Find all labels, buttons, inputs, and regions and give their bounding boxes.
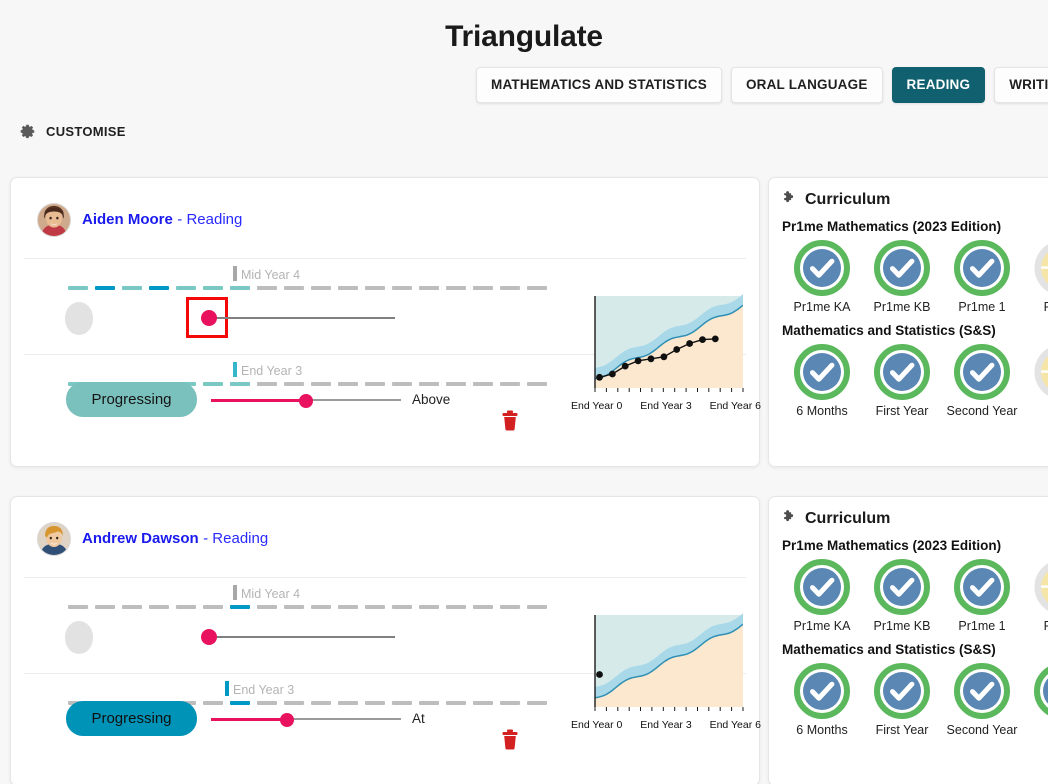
check-complete-icon [862,559,942,615]
goal-rail[interactable] [207,317,395,319]
chart-x-label: End Year 3 [640,719,691,731]
track-dash [257,605,277,609]
curriculum-section-title: Pr1me Mathematics (2023 Edition) [769,210,1048,234]
track-dash [338,605,358,609]
track-dash [527,286,547,290]
trash-icon [501,737,519,754]
track-dash [203,605,223,609]
progress-donut-icon: 4 1 [1022,559,1048,615]
curriculum-item-label: First Year [862,723,942,737]
student-subject: - Reading [203,530,268,547]
chart-x-label: End Year 6 [710,400,761,412]
curriculum-item[interactable]: Pr1me KA [782,559,862,633]
curriculum-item-row: Pr1me KA Pr1me KB Pr1me 1 0 1 Pr1me [769,234,1048,314]
milestone-label: End Year 3 [233,683,294,697]
track-dash [365,605,385,609]
curriculum-item[interactable]: 6 Months [782,344,862,418]
ghost-status-pill[interactable] [65,621,93,654]
app-root: Triangulate MATHEMATICS AND STATISTICSOR… [0,0,1048,784]
track-dash [122,605,142,609]
slider-value-label: Above [412,392,450,407]
curriculum-item[interactable]: 6 Months [782,663,862,737]
puzzle-icon [782,190,797,210]
customise-label: CUSTOMISE [46,124,126,139]
tab-mathematics-and-statistics[interactable]: MATHEMATICS AND STATISTICS [476,67,722,103]
track-dash [419,286,439,290]
curriculum-item[interactable]: Pr1me KB [862,240,942,314]
track-dash [392,605,412,609]
student-name[interactable]: Andrew Dawson [82,530,199,547]
track-dash [338,286,358,290]
student-header: Andrew Dawson - Reading [11,497,759,556]
student-card: Aiden Moore - Reading Mid Year 4 End Yea… [10,177,760,467]
track-dash [257,286,277,290]
goal-rail[interactable] [207,636,395,638]
track-dash [500,605,520,609]
milestone-tick [225,681,229,696]
track-dash [500,286,520,290]
track-dash [311,286,331,290]
student-subject: - Reading [177,211,242,228]
student-header: Aiden Moore - Reading [11,178,759,237]
curriculum-item[interactable]: 0 1 Pr1me [1022,240,1048,314]
curriculum-item-label: Second Year [942,404,1022,418]
track-dash [527,701,547,705]
track-dash [392,286,412,290]
curriculum-title-text: Curriculum [805,510,890,528]
curriculum-item[interactable]: Pr1me KB [862,559,942,633]
progress-donut-icon: 0 1 [1022,240,1048,296]
student-card: Andrew Dawson - Reading Mid Year 4 End Y… [10,496,760,784]
curriculum-item-row: 6 Months First Year Second Year 93 5 T [769,338,1048,418]
student-name[interactable]: Aiden Moore [82,211,173,228]
chart-x-axis-labels: End Year 0End Year 3End Year 6 [571,719,761,731]
curriculum-heading: Curriculum [769,178,1048,210]
chart-x-label: End Year 0 [571,719,622,731]
check-complete-icon [942,344,1022,400]
track-dash [527,382,547,386]
slider-remainder [287,718,401,720]
curriculum-section-title: Pr1me Mathematics (2023 Edition) [769,529,1048,553]
track-dash [284,605,304,609]
track-dashes [68,286,547,290]
check-complete-icon [942,663,1022,719]
customise-button[interactable]: CUSTOMISE [18,122,126,141]
check-complete-icon [1022,663,1048,719]
status-control-row: Progressing Above [11,382,450,417]
delete-button[interactable] [501,729,519,755]
track-dash [122,286,142,290]
student-title: Aiden Moore - Reading [82,211,242,229]
tab-oral-language[interactable]: ORAL LANGUAGE [731,67,883,103]
slider-fill [211,399,306,402]
curriculum-item-row: 6 Months First Year Second Year Third [769,657,1048,737]
subject-tab-bar: MATHEMATICS AND STATISTICSORAL LANGUAGER… [476,67,1048,103]
check-complete-icon [942,240,1022,296]
track-dash [527,605,547,609]
milestone-label: End Year 3 [241,364,302,378]
slider-fill [211,718,287,721]
curriculum-item-label: Pr1me [1022,619,1048,633]
curriculum-item-label: Pr1me KA [782,619,862,633]
progress-donut-icon: 93 5 [1022,344,1048,400]
track-dash [446,286,466,290]
chart-x-axis-labels: End Year 0End Year 3End Year 6 [571,400,761,412]
status-control-row: Progressing At [11,701,425,736]
check-complete-icon [942,559,1022,615]
curriculum-item[interactable]: Pr1me 1 [942,240,1022,314]
delete-button[interactable] [501,410,519,436]
student-title: Andrew Dawson - Reading [82,530,268,548]
curriculum-item[interactable]: First Year [862,663,942,737]
curriculum-item-label: Pr1me KB [862,619,942,633]
slider-knob[interactable] [280,713,294,727]
track-dashes [68,605,547,609]
curriculum-panel: Curriculum Pr1me Mathematics (2023 Editi… [768,496,1048,784]
ghost-status-pill[interactable] [65,302,93,335]
track-dash [230,286,250,290]
track-dash [95,605,115,609]
progress-chart [577,607,745,733]
status-badge[interactable]: Progressing [66,382,197,417]
curriculum-panel: Curriculum Pr1me Mathematics (2023 Editi… [768,177,1048,467]
curriculum-item[interactable]: Second Year [942,344,1022,418]
slider-value-label: At [412,711,425,726]
goal-knob[interactable] [201,310,217,326]
track-dash [68,286,88,290]
track-dash [203,286,223,290]
track-dash [419,605,439,609]
milestone-label: Mid Year 4 [241,268,300,282]
puzzle-icon [782,509,797,529]
track-dash [311,605,331,609]
curriculum-section-title: Mathematics and Statistics (S&S) [769,314,1048,338]
achievement-slider[interactable] [211,710,401,728]
track-dash [68,605,88,609]
achievement-slider[interactable] [211,391,401,409]
curriculum-item-label: First Year [862,404,942,418]
avatar [37,522,71,556]
goal-knob[interactable] [201,629,217,645]
curriculum-item-label: Pr1me 1 [942,300,1022,314]
track-dash [473,701,493,705]
tab-writing[interactable]: WRITING [994,67,1048,103]
curriculum-item[interactable]: Third [1022,663,1048,737]
curriculum-heading: Curriculum [769,497,1048,529]
track-dash [176,286,196,290]
curriculum-item[interactable]: 4 1 Pr1me [1022,559,1048,633]
curriculum-item-label: 6 Months [782,404,862,418]
track-dash [176,605,196,609]
curriculum-item-label: Pr1me [1022,300,1048,314]
tab-reading[interactable]: READING [892,67,986,103]
check-complete-icon [782,240,862,296]
check-complete-icon [862,240,942,296]
curriculum-item-label: Pr1me KB [862,300,942,314]
track-dash [500,701,520,705]
track-dash [500,382,520,386]
track-dash [230,605,250,609]
avatar [37,203,71,237]
progress-chart [577,288,745,414]
track-dash [149,605,169,609]
milestone-tick [233,266,237,281]
track-dash [446,701,466,705]
chart-x-label: End Year 0 [571,400,622,412]
curriculum-item-row: Pr1me KA Pr1me KB Pr1me 1 4 1 Pr1me [769,553,1048,633]
gear-icon [18,122,37,141]
check-complete-icon [862,663,942,719]
track-dash [473,286,493,290]
curriculum-item-label: Pr1me 1 [942,619,1022,633]
slider-knob[interactable] [299,394,313,408]
curriculum-item-label: Third [1022,723,1048,737]
curriculum-title-text: Curriculum [805,191,890,209]
check-complete-icon [862,344,942,400]
curriculum-item[interactable]: Pr1me KA [782,240,862,314]
curriculum-section-title: Mathematics and Statistics (S&S) [769,633,1048,657]
milestone-tick [233,362,237,377]
curriculum-item-label: Pr1me KA [782,300,862,314]
milestone-label: Mid Year 4 [241,587,300,601]
check-complete-icon [782,344,862,400]
status-badge[interactable]: Progressing [66,701,197,736]
track-dash [473,382,493,386]
curriculum-item[interactable]: 93 5 Third [1022,344,1048,418]
milestone-tick [233,585,237,600]
track-dash [95,286,115,290]
chart-x-label: End Year 3 [640,400,691,412]
curriculum-item-label: 6 Months [782,723,862,737]
check-complete-icon [782,663,862,719]
curriculum-item[interactable]: Second Year [942,663,1022,737]
curriculum-item[interactable]: Pr1me 1 [942,559,1022,633]
track-dash [446,605,466,609]
curriculum-item-label: Third [1022,404,1048,418]
chart-x-label: End Year 6 [710,719,761,731]
track-dash [149,286,169,290]
trash-icon [501,418,519,435]
check-complete-icon [782,559,862,615]
track-dash [473,605,493,609]
track-dash [365,286,385,290]
page-title: Triangulate [0,20,1048,54]
slider-remainder [306,399,401,401]
curriculum-item-label: Second Year [942,723,1022,737]
track-dash [284,286,304,290]
curriculum-item[interactable]: First Year [862,344,942,418]
